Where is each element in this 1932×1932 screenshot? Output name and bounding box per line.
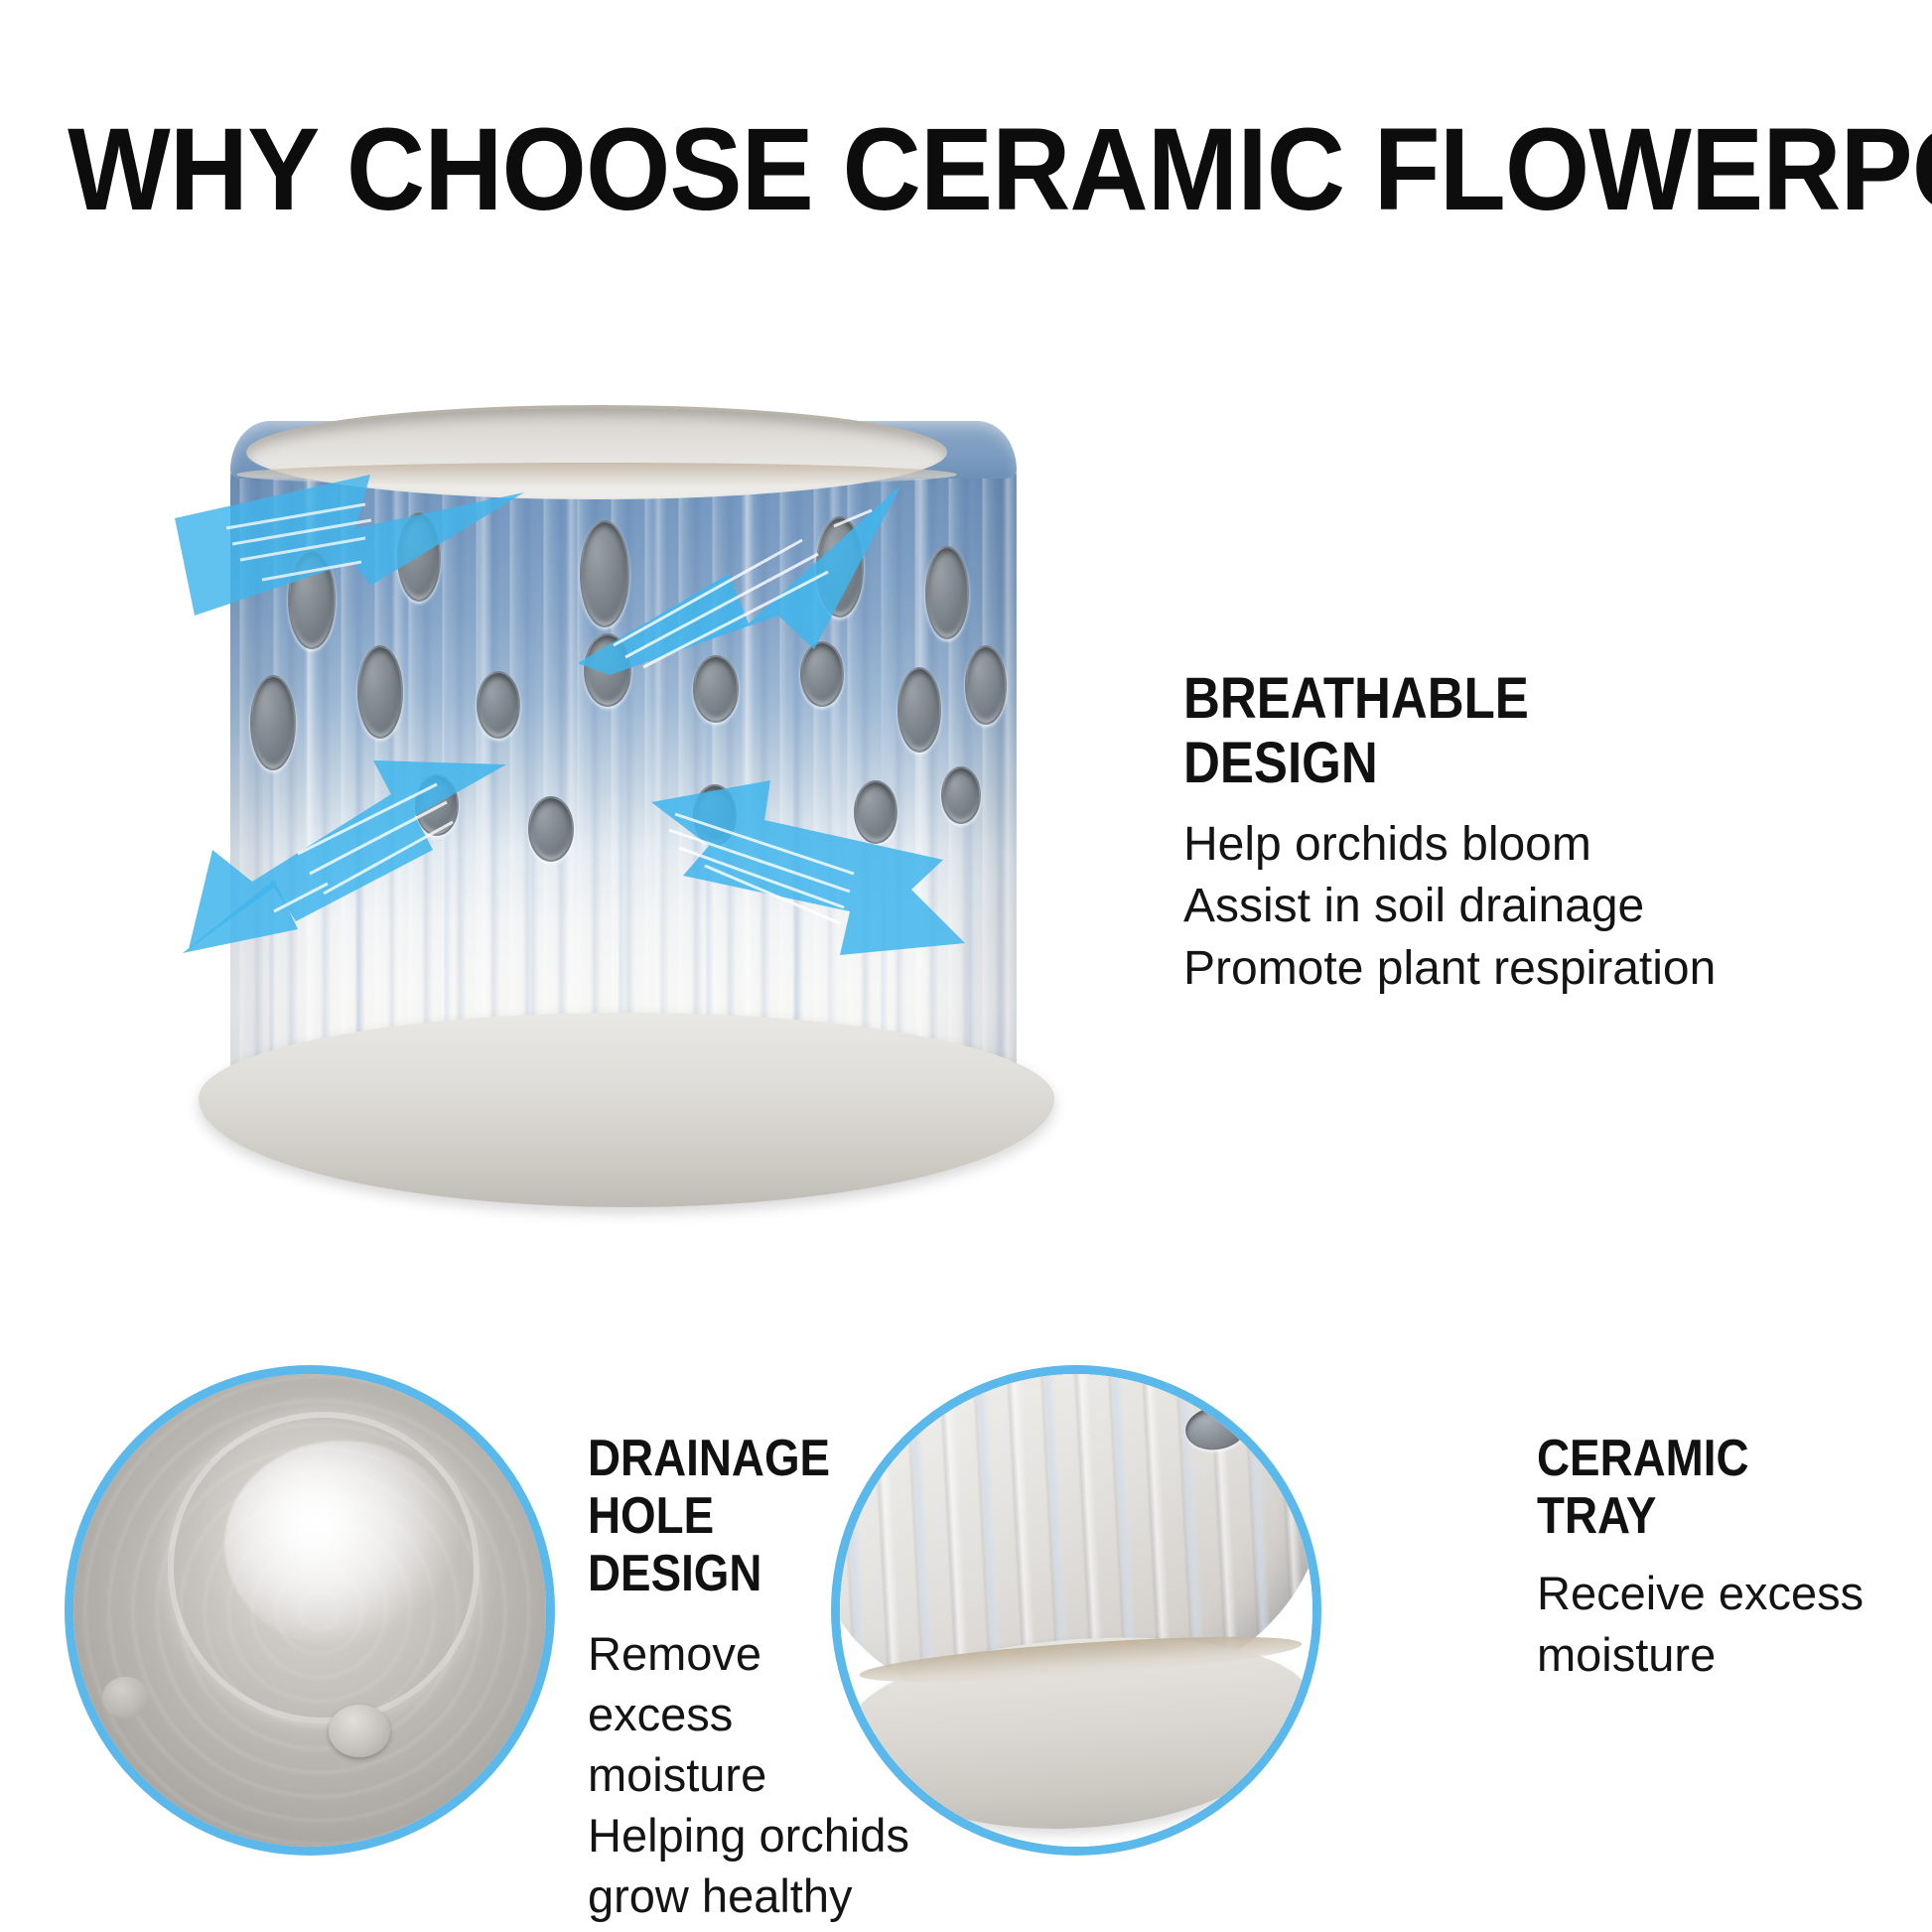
- feature-body: Receive excess moisture: [1537, 1563, 1894, 1684]
- feature-heading: BREATHABLE DESIGN: [1183, 667, 1725, 796]
- pot-underside: [73, 1374, 546, 1847]
- airflow-arrow-icon: [179, 755, 516, 973]
- breathing-hole: [897, 667, 941, 753]
- drainage-hole-nub: [329, 1705, 390, 1756]
- breathing-hole: [965, 645, 1007, 725]
- breathing-hole: [528, 796, 574, 862]
- feature-ceramic-tray: CERAMIC TRAY Receive excess moisture: [1537, 1430, 1894, 1685]
- page-title: WHY CHOOSE CERAMIC FLOWERPOTS: [68, 109, 1864, 232]
- feature-heading: DRAINAGE HOLE DESIGN: [588, 1430, 876, 1603]
- infographic-canvas: WHY CHOOSE CERAMIC FLOWERPOTS: [0, 0, 1932, 1932]
- inset-ceramic-tray-photo: [840, 1374, 1312, 1847]
- feature-line: Promote plant respiration: [1183, 938, 1799, 1000]
- tray-scene: [840, 1374, 1312, 1847]
- inset-drainage-hole-photo: [73, 1374, 546, 1847]
- feature-line: Receive excess moisture: [1537, 1563, 1894, 1684]
- feature-breathable-design: BREATHABLE DESIGN Help orchids bloom Ass…: [1183, 667, 1799, 1000]
- feature-body: Help orchids bloom Assist in soil draina…: [1183, 814, 1799, 1000]
- feature-line: Assist in soil drainage: [1183, 876, 1799, 937]
- pot-saucer: [199, 1013, 1054, 1207]
- airflow-arrow-icon: [645, 774, 983, 973]
- airflow-arrow-icon: [574, 477, 971, 675]
- airflow-arrow-icon: [167, 467, 544, 655]
- white-glaze-patch: [224, 1441, 461, 1648]
- breathing-hole: [477, 671, 520, 739]
- feature-heading: CERAMIC TRAY: [1537, 1430, 1852, 1545]
- feature-line: Help orchids bloom: [1183, 814, 1799, 876]
- breathing-hole: [357, 645, 403, 739]
